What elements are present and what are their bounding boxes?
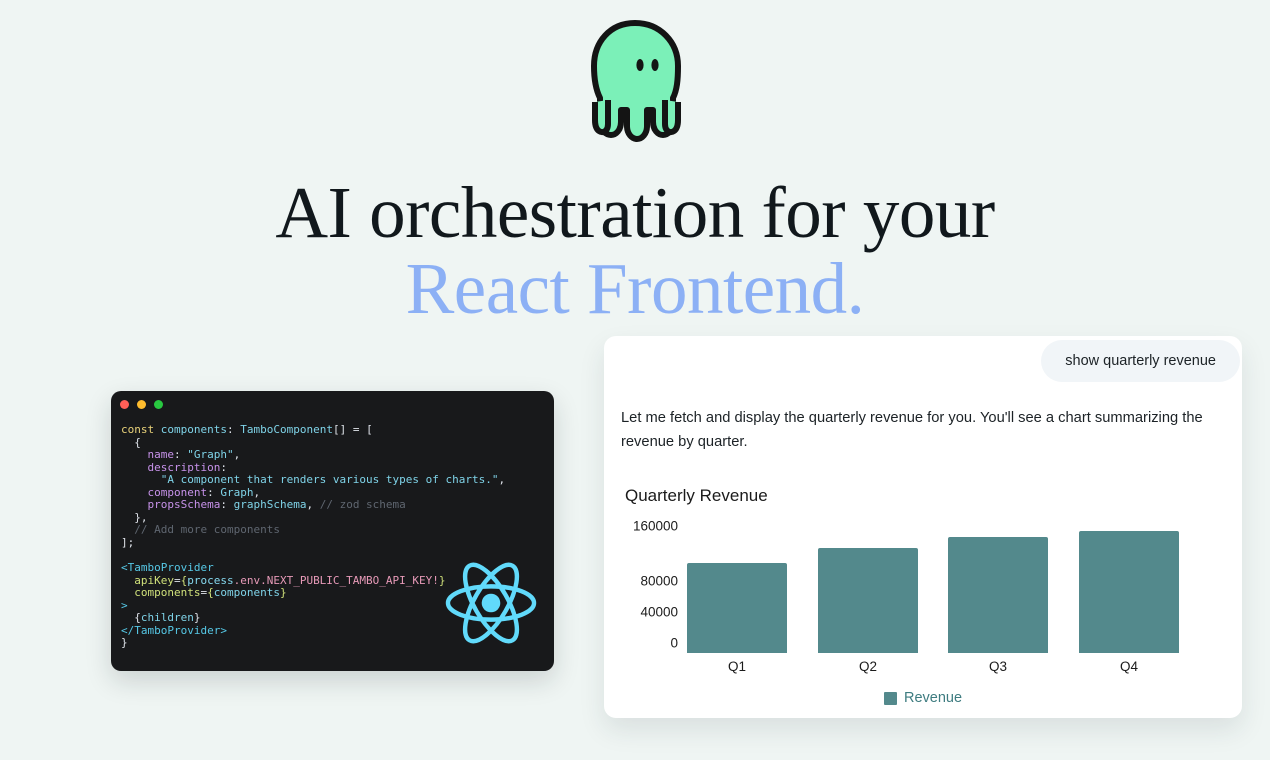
bar-slot[interactable]	[818, 522, 918, 653]
logo-container	[0, 18, 1270, 148]
maximize-button[interactable]	[154, 400, 163, 409]
user-message-bubble: show quarterly revenue	[1041, 340, 1240, 382]
octopus-logo-icon	[581, 18, 689, 148]
bar-slot[interactable]	[687, 522, 787, 653]
headline-line-1: AI orchestration for your	[275, 172, 994, 253]
revenue-bar-chart: 160000 80000 40000 0 Q1 Q2	[604, 522, 1242, 672]
chart-plot-area: Q1 Q2 Q3 Q4	[687, 522, 1201, 653]
landing-page: AI orchestration for your React Frontend…	[0, 0, 1270, 760]
chart-y-axis: 160000 80000 40000 0	[604, 522, 678, 658]
chart-legend: Revenue	[604, 690, 1242, 706]
assistant-message: Let me fetch and display the quarterly r…	[621, 406, 1223, 454]
headline-line-2: React Frontend.	[0, 251, 1270, 327]
bar-q1[interactable]	[687, 563, 787, 653]
x-tick-label: Q3	[948, 659, 1048, 674]
bar-q2[interactable]	[818, 548, 918, 653]
y-tick-label: 80000	[640, 574, 678, 589]
page-title: AI orchestration for your React Frontend…	[0, 175, 1270, 327]
bar-slot[interactable]	[1079, 522, 1179, 653]
y-tick-label: 160000	[633, 519, 678, 534]
bar-q4[interactable]	[1079, 531, 1179, 653]
x-tick-label: Q1	[687, 659, 787, 674]
window-controls[interactable]	[120, 400, 163, 409]
y-tick-label: 40000	[640, 605, 678, 620]
code-block: const components: TamboComponent[] = [ {…	[121, 424, 505, 650]
legend-swatch-icon	[884, 692, 897, 705]
bar-q3[interactable]	[948, 537, 1048, 653]
chat-card: show quarterly revenue Let me fetch and …	[604, 336, 1242, 718]
user-message-row: show quarterly revenue	[1041, 340, 1240, 382]
x-tick-label: Q2	[818, 659, 918, 674]
y-tick-label: 0	[670, 636, 678, 651]
legend-label: Revenue	[904, 690, 962, 706]
x-tick-label: Q4	[1079, 659, 1179, 674]
chart-title: Quarterly Revenue	[625, 486, 768, 506]
close-button[interactable]	[120, 400, 129, 409]
bar-slot[interactable]	[948, 522, 1048, 653]
minimize-button[interactable]	[137, 400, 146, 409]
